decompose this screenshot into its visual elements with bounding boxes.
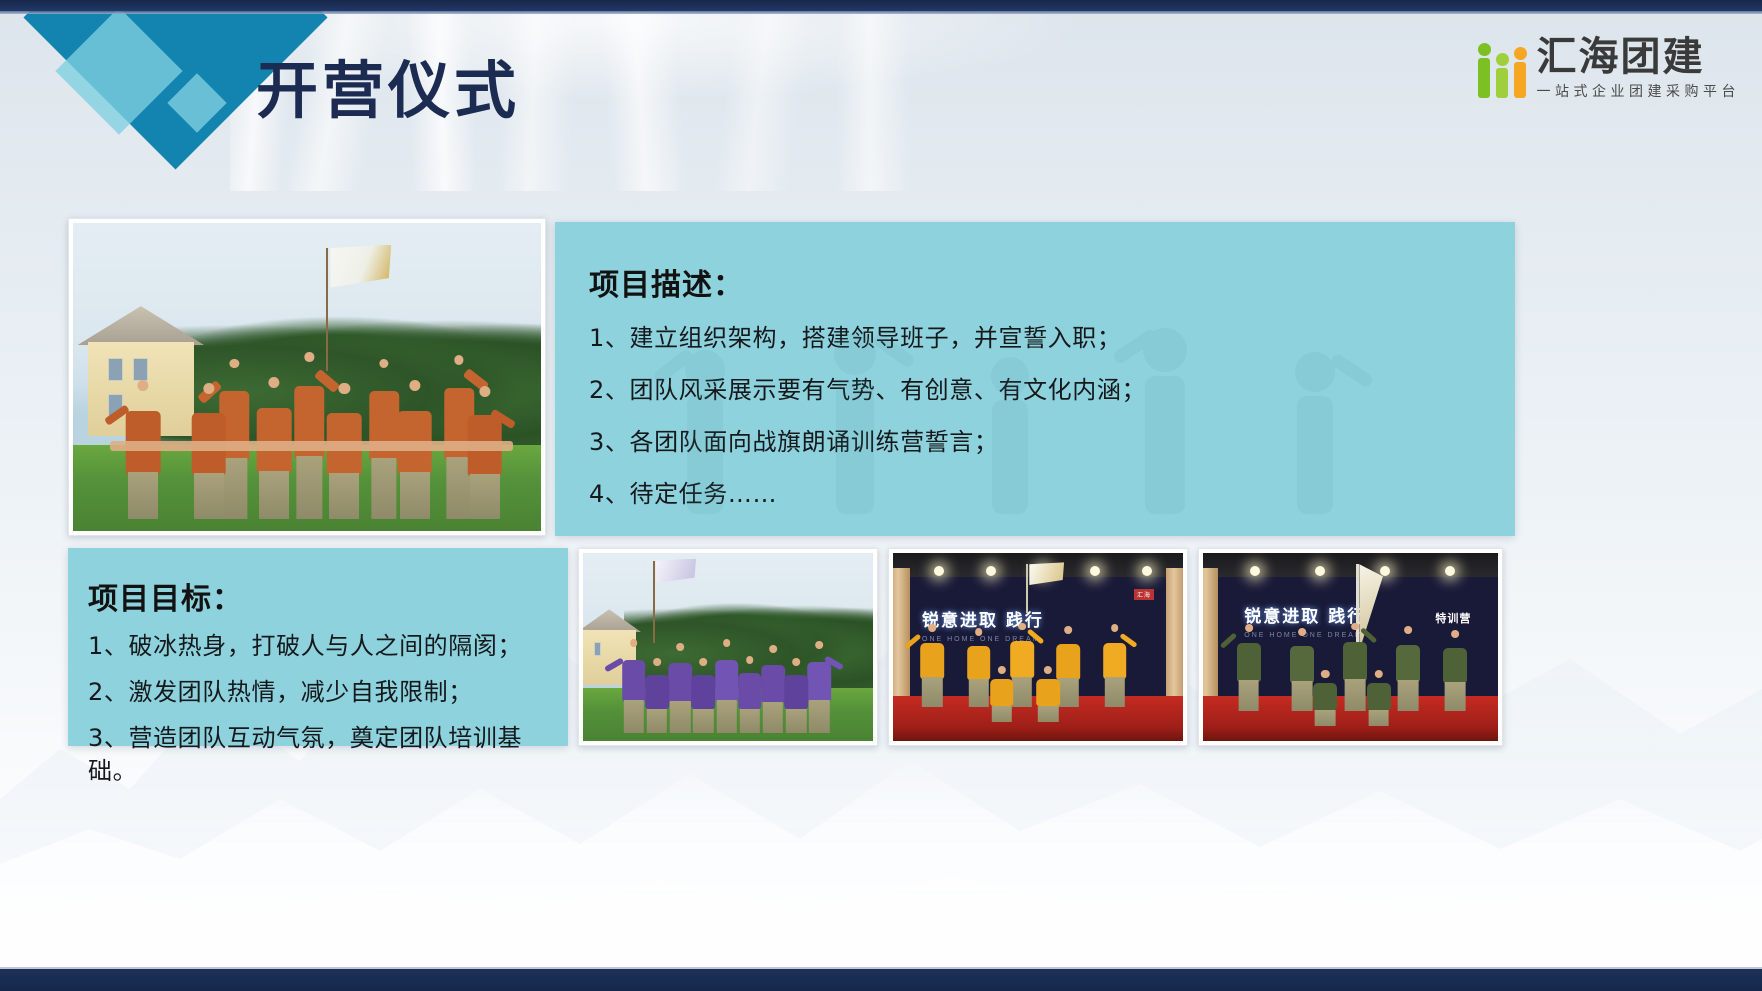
goals-list: 1、破冰热身，打破人与人之间的隔阂； 2、激发团队热情，减少自我限制； 3、营造…	[88, 630, 540, 788]
photo-stage-yellow-shirts: 锐意进取 践行 ONE HOME ONE DREAM 汇海	[888, 548, 1188, 746]
project-goals-panel: 项目目标： 1、破冰热身，打破人与人之间的隔阂； 2、激发团队热情，减少自我限制…	[68, 548, 568, 746]
list-item: 3、各团队面向战旗朗诵训练营誓言；	[589, 426, 1475, 459]
goals-heading: 项目目标：	[88, 574, 540, 618]
brand-name: 汇海团建	[1537, 36, 1741, 78]
slide-canvas: 开营仪式 汇海团建 一站式企业团建采购平台	[0, 0, 1762, 991]
list-item: 2、团队风采展示要有气势、有创意、有文化内涵；	[589, 374, 1475, 407]
description-heading: 项目描述：	[589, 260, 1475, 304]
brand-logo: 汇海团建 一站式企业团建采购平台	[1477, 36, 1741, 101]
top-band-highlight	[0, 11, 1762, 14]
bottom-navy-band	[0, 969, 1762, 991]
logo-figure-lightgreen-icon	[1495, 53, 1510, 98]
list-item: 3、营造团队互动气氛，奠定团队培训基础。	[88, 722, 540, 788]
logo-figure-green-icon	[1477, 43, 1492, 98]
photo-stage-green-shirts: 锐意进取 践行 ONE HOME ONE DREAM 特训营	[1198, 548, 1503, 746]
list-item: 2、激发团队热情，减少自我限制；	[88, 676, 540, 709]
top-navy-band	[0, 0, 1762, 11]
list-item: 1、破冰热身，打破人与人之间的隔阂；	[88, 630, 540, 663]
project-description-panel: 项目描述： 1、建立组织架构，搭建领导班子，并宣誓入职； 2、团队风采展示要有气…	[555, 222, 1515, 536]
list-item: 1、建立组织架构，搭建领导班子，并宣誓入职；	[589, 322, 1475, 355]
description-list: 1、建立组织架构，搭建领导班子，并宣誓入职； 2、团队风采展示要有气势、有创意、…	[589, 322, 1475, 511]
logo-figure-orange-icon	[1513, 47, 1528, 98]
brand-tagline: 一站式企业团建采购平台	[1537, 81, 1741, 101]
photo-team-purple-shirts	[578, 548, 878, 746]
photo-team-orange-shirts	[68, 218, 546, 536]
page-title: 开营仪式	[256, 60, 520, 122]
stage-corner-tag: 特训营	[1432, 609, 1474, 627]
list-item: 4、待定任务……	[589, 478, 1475, 511]
stage-corner-tag: 汇海	[1134, 589, 1154, 600]
logo-people-icon	[1477, 36, 1528, 98]
